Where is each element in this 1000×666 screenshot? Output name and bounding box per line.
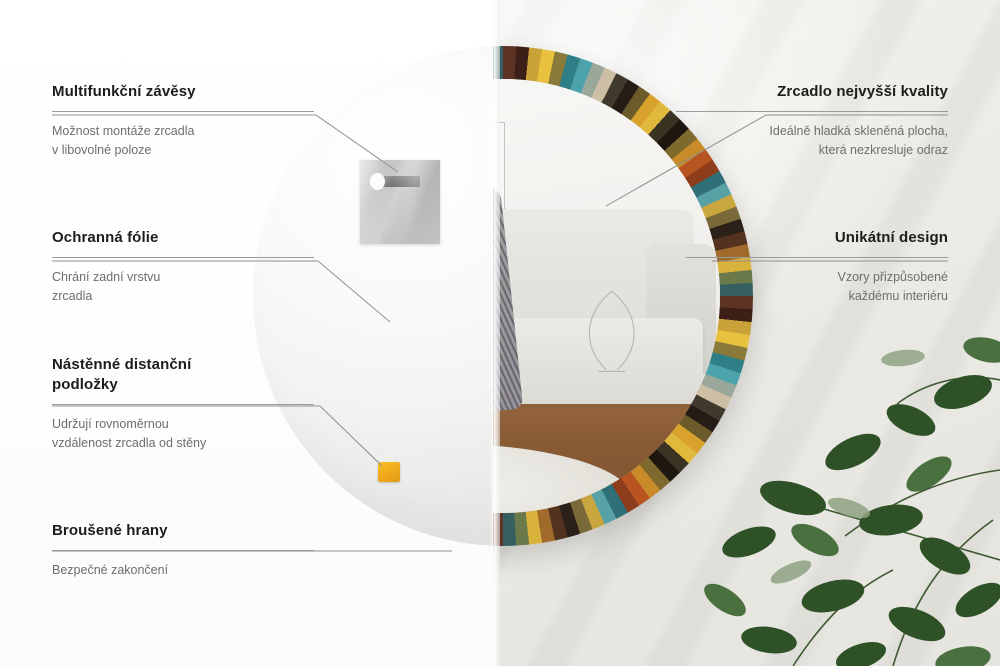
callout-rule <box>52 257 314 258</box>
callout-multifunkcni-zavesy: Multifunkční závěsy Možnost montáže zrca… <box>52 82 314 160</box>
callout-desc-line-1: Možnost montáže zrcadla <box>52 122 314 141</box>
callout-rule <box>52 111 314 112</box>
callout-title: Unikátní design <box>686 228 948 248</box>
panel-seam-divider <box>490 0 500 666</box>
hanger-plate <box>360 160 440 244</box>
callout-desc-line-1: Udržují rovnoměrnou <box>52 415 314 434</box>
callout-rule <box>686 257 948 258</box>
callout-desc-line-2: každému interiéru <box>686 287 948 306</box>
hanger-metal-sheen <box>360 160 440 244</box>
callout-rule <box>676 111 948 112</box>
callout-title: Ochranná fólie <box>52 228 314 248</box>
infographic-canvas: Multifunkční závěsy Možnost montáže zrca… <box>0 0 1000 666</box>
callout-rule <box>52 404 314 405</box>
callout-title-line-2: podložky <box>52 375 314 395</box>
callout-desc-line-1: Ideálně hladká skleněná plocha, <box>676 122 948 141</box>
callout-desc-line-1: Chrání zadní vrstvu <box>52 268 314 287</box>
yellow-spacer-pad <box>378 462 400 482</box>
callout-rule <box>52 550 314 551</box>
callout-title-line-1: Nástěnné distanční <box>52 355 314 375</box>
callout-zrcadlo-nejvyssi-kvality: Zrcadlo nejvyšší kvality Ideálně hladká … <box>676 82 948 160</box>
callout-title: Zrcadlo nejvyšší kvality <box>676 82 948 102</box>
callout-nastenne-distancni-podlozky: Nástěnné distanční podložky Udržují rovn… <box>52 355 314 453</box>
callout-brousene-hrany: Broušené hrany Bezpečné zakončení <box>52 521 314 580</box>
callout-desc-line-1: Vzory přizpůsobené <box>686 268 948 287</box>
callout-desc-line-2: v libovolné poloze <box>52 141 314 160</box>
callout-desc-line-1: Bezpečné zakončení <box>52 561 314 580</box>
callout-title: Multifunkční závěsy <box>52 82 314 102</box>
callout-desc-line-2: zrcadla <box>52 287 314 306</box>
callout-title: Broušené hrany <box>52 521 314 541</box>
callout-ochranna-folie: Ochranná fólie Chrání zadní vrstvu zrcad… <box>52 228 314 306</box>
callout-desc-line-2: která nezkresluje odraz <box>676 141 948 160</box>
callout-unikatni-design: Unikátní design Vzory přizpůsobené každé… <box>686 228 948 306</box>
callout-desc-line-2: vzdálenost zrcadla od stěny <box>52 434 314 453</box>
